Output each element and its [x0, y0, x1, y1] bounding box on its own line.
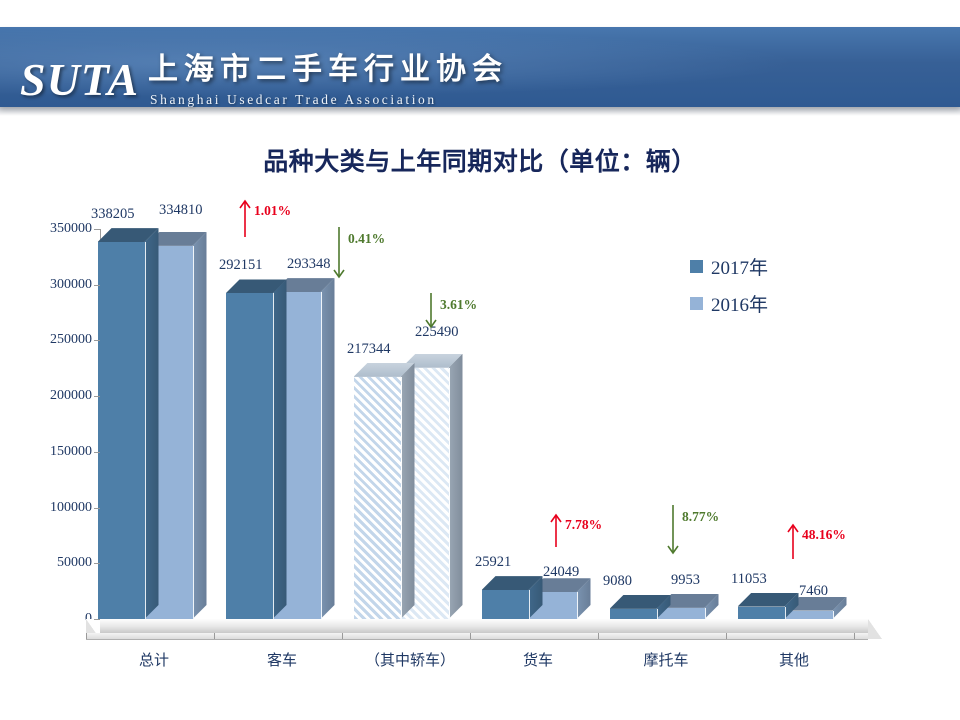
suta-logo-abbrev: SUTA: [20, 57, 139, 103]
y-axis-tick: [94, 340, 100, 341]
legend-label: 2017年: [711, 253, 768, 280]
y-axis-tick-label: 100000: [20, 500, 92, 516]
x-axis-tick: [86, 633, 87, 639]
y-axis-tick: [94, 508, 100, 509]
bar-总计-2017[interactable]: [98, 228, 159, 619]
y-axis-tick: [94, 396, 100, 397]
legend-label: 2016年: [711, 290, 768, 317]
data-label-2017: 25921: [475, 554, 511, 571]
x-axis-category-label: 摩托车: [643, 649, 688, 670]
banner-drop-shadow: [0, 107, 960, 116]
bar-side-face: [145, 228, 159, 619]
chart-floor-front: [86, 633, 868, 640]
bar-front-face: [482, 590, 530, 619]
bar-（其中轿车）-2017[interactable]: [354, 363, 415, 619]
legend-swatch-icon: [690, 297, 703, 310]
chart-title: 品种大类与上年同期对比（单位：辆）: [0, 142, 960, 178]
arrow-up-icon: [238, 201, 252, 237]
y-axis-tick: [94, 563, 100, 564]
bar-front-face: [226, 293, 274, 619]
chart-floor-top: [100, 619, 882, 633]
y-axis-tick-label: 300000: [20, 277, 92, 293]
y-axis-tick-label: 150000: [20, 444, 92, 460]
bar-其他-2017[interactable]: [738, 593, 799, 619]
bar-front-face: [738, 607, 786, 619]
percent-change-label: 7.78%: [565, 517, 602, 533]
arrow-up-icon: [786, 525, 800, 559]
chart-legend: 2017年2016年: [690, 253, 768, 327]
bar-side-face: [401, 363, 415, 619]
x-axis-tick: [598, 633, 599, 639]
data-label-2017: 217344: [347, 341, 391, 358]
association-name-chinese: 上海市二手车行业协会: [148, 55, 508, 85]
arrow-down-icon: [666, 505, 680, 553]
bar-side-face: [321, 278, 335, 619]
data-label-2016: 7460: [799, 583, 828, 600]
data-label-2016: 334810: [159, 202, 203, 219]
bar-货车-2017[interactable]: [482, 576, 543, 619]
x-axis-category-label: 总计: [139, 649, 169, 670]
x-axis-tick: [726, 633, 727, 639]
association-name-english: Shanghai Usedcar Trade Association: [150, 93, 437, 107]
bar-front-face: [98, 242, 146, 619]
x-axis-category-label: （其中轿车）: [365, 649, 455, 670]
percent-change-label: 48.16%: [802, 527, 846, 543]
y-axis-tick-label: 250000: [20, 332, 92, 348]
bar-side-face: [193, 232, 207, 619]
bar-front-face: [354, 377, 402, 619]
x-axis-tick: [342, 633, 343, 639]
percent-change-label: 1.01%: [254, 203, 291, 219]
x-axis-category-label: 其他: [779, 649, 809, 670]
percent-change-label: 3.61%: [440, 297, 477, 313]
x-axis-tick: [854, 633, 855, 639]
y-axis-tick-labels: 0500001000001500002000002500003000003500…: [20, 195, 92, 695]
y-axis-tick: [94, 619, 100, 620]
arrow-down-icon: [332, 227, 346, 277]
data-label-2017: 11053: [731, 571, 767, 588]
bar-摩托车-2017[interactable]: [610, 595, 671, 619]
percent-change-label: 8.77%: [682, 509, 719, 525]
arrow-down-icon: [424, 293, 438, 327]
data-label-2017: 338205: [91, 206, 135, 223]
site-banner: SUTA 上海市二手车行业协会 Shanghai Usedcar Trade A…: [0, 27, 960, 107]
data-label-2017: 9080: [603, 573, 632, 590]
data-label-2016: 9953: [671, 572, 700, 589]
y-axis-tick-label: 200000: [20, 388, 92, 404]
data-label-2016: 24049: [543, 564, 579, 581]
data-label-2016: 293348: [287, 256, 331, 273]
x-axis-tick: [470, 633, 471, 639]
x-axis-category-label: 货车: [523, 649, 553, 670]
arrow-up-icon: [549, 515, 563, 547]
y-axis-tick: [94, 452, 100, 453]
bar-side-face: [273, 279, 287, 619]
legend-swatch-icon: [690, 260, 703, 273]
data-label-2017: 292151: [219, 257, 263, 274]
x-axis-category-label: 客车: [267, 649, 297, 670]
bar-front-face: [610, 609, 658, 619]
legend-item-2016年[interactable]: 2016年: [690, 290, 768, 317]
percent-change-label: 0.41%: [348, 231, 385, 247]
bar-side-face: [449, 354, 463, 619]
y-axis-tick-label: 50000: [20, 555, 92, 571]
y-axis-tick: [94, 285, 100, 286]
y-axis-tick-label: 0: [20, 611, 92, 627]
y-axis-tick: [94, 229, 100, 230]
x-axis-tick: [214, 633, 215, 639]
bar-客车-2017[interactable]: [226, 279, 287, 619]
y-axis-tick-label: 350000: [20, 221, 92, 237]
legend-item-2017年[interactable]: 2017年: [690, 253, 768, 280]
bar-chart: 0500001000001500002000002500003000003500…: [0, 195, 960, 695]
floor-right-bevel: [868, 619, 882, 639]
